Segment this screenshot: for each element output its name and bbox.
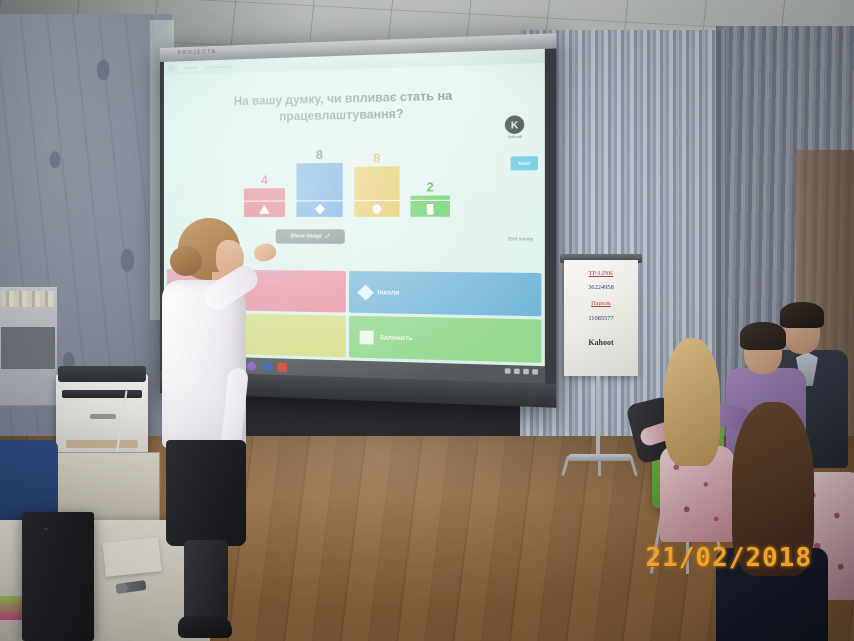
answer-label: Інколи: [377, 289, 399, 297]
bar-shape-cell: [296, 200, 342, 217]
kahoot-logo-icon: K: [505, 115, 524, 134]
printer-scanner-bar: [62, 390, 142, 398]
circle-icon: [373, 204, 382, 213]
printer-lid: [58, 366, 146, 382]
bar-shape-cell: [354, 200, 399, 217]
bar-group: 4: [244, 174, 285, 217]
camera-date-stamp: 21/02/2018: [645, 543, 812, 573]
classroom-photo: PROJECTA Kahoot! play.kahoot.it На вашу …: [0, 0, 854, 641]
bar-group: 8: [354, 152, 399, 217]
bar-shape-cell: [244, 200, 285, 216]
bar-top-segment: [354, 166, 399, 200]
flipchart-line-password-label: Пароль: [564, 300, 638, 307]
bar-value: 4: [261, 174, 268, 186]
books-row: [1, 291, 55, 307]
network-icon[interactable]: [505, 368, 511, 374]
system-tray[interactable]: [505, 368, 538, 374]
diamond-icon: [314, 204, 324, 214]
presenter-hair-bun: [170, 246, 202, 276]
office-printer: [56, 374, 148, 456]
printer-paper-tray: [66, 440, 138, 448]
flipchart-line-ssid: TP-LINK: [564, 270, 638, 277]
flipchart-base: [568, 454, 632, 461]
show-image-label: Show image: [290, 233, 322, 239]
bar-group: 8: [296, 148, 342, 217]
kahoot-logo-letter: K: [511, 119, 518, 130]
presenter-black-skirt: [166, 440, 246, 546]
bar-value: 8: [316, 149, 323, 162]
shelf-compartment: [1, 327, 55, 369]
printer-tray-handle: [90, 414, 116, 419]
bar-group: 2: [410, 180, 450, 216]
bookshelf: [0, 286, 58, 406]
bar-triangle: [244, 188, 285, 217]
next-button[interactable]: Next: [511, 156, 538, 170]
kahoot-logo-caption: Kahoot!: [495, 135, 536, 140]
flipchart-stand-pole: [596, 376, 600, 460]
bar-top-segment: [296, 163, 342, 201]
address-bar-url[interactable]: play.kahoot.it: [207, 64, 230, 70]
square-icon: [359, 330, 373, 344]
volume-icon[interactable]: [514, 369, 520, 375]
student-blonde-hair: [664, 338, 720, 466]
presenter-shoes: [178, 616, 232, 638]
bar-shape-cell: [410, 200, 450, 217]
show-image-button[interactable]: Show image ⤢: [276, 229, 345, 244]
bar-value: 2: [426, 180, 433, 193]
student-purple-shirt-hair: [740, 322, 786, 350]
battery-icon[interactable]: [523, 369, 529, 375]
bar-value: 8: [373, 152, 380, 165]
student-group: [636, 296, 854, 641]
reload-icon[interactable]: [169, 66, 174, 71]
flipchart-line-kahoot: Kahoot: [564, 338, 638, 347]
answer-label: Залежить: [380, 334, 413, 342]
female-presenter: [150, 218, 270, 641]
diamond-icon: [357, 284, 374, 300]
answer-tile-diamond[interactable]: Інколи: [348, 271, 541, 316]
student-dark-suit-hair: [780, 302, 824, 328]
results-bar-chart: 4 8: [242, 147, 455, 217]
bar-diamond: [296, 163, 342, 217]
triangle-icon: [259, 205, 269, 214]
bar-square: [410, 195, 450, 217]
square-icon: [427, 204, 434, 215]
bar-top-segment: [244, 188, 285, 201]
flipchart-line-password-value: 11085577: [564, 315, 638, 322]
pc-brand-logo: ▭: [44, 526, 48, 531]
answer-tile-square[interactable]: Залежить: [348, 316, 541, 363]
flipchart-paper: TP-LINK 36224958 Пароль 11085577 Kahoot: [564, 260, 638, 376]
pdf-icon[interactable]: [278, 362, 287, 372]
end-survey-button[interactable]: End survey: [508, 236, 533, 241]
clock-icon[interactable]: [532, 369, 538, 375]
desktop-tower: ▭: [22, 512, 94, 641]
flipchart-line-ssid-number: 36224958: [564, 284, 638, 291]
expand-icon: ⤢: [325, 233, 329, 240]
browser-tab[interactable]: Kahoot!: [179, 64, 203, 72]
bar-circle: [354, 166, 399, 217]
screen-brand-label: PROJECTA: [178, 49, 217, 56]
question-text: На вашу думку, чи впливає стать на праце…: [212, 89, 477, 127]
presenter-legs: [184, 540, 228, 622]
